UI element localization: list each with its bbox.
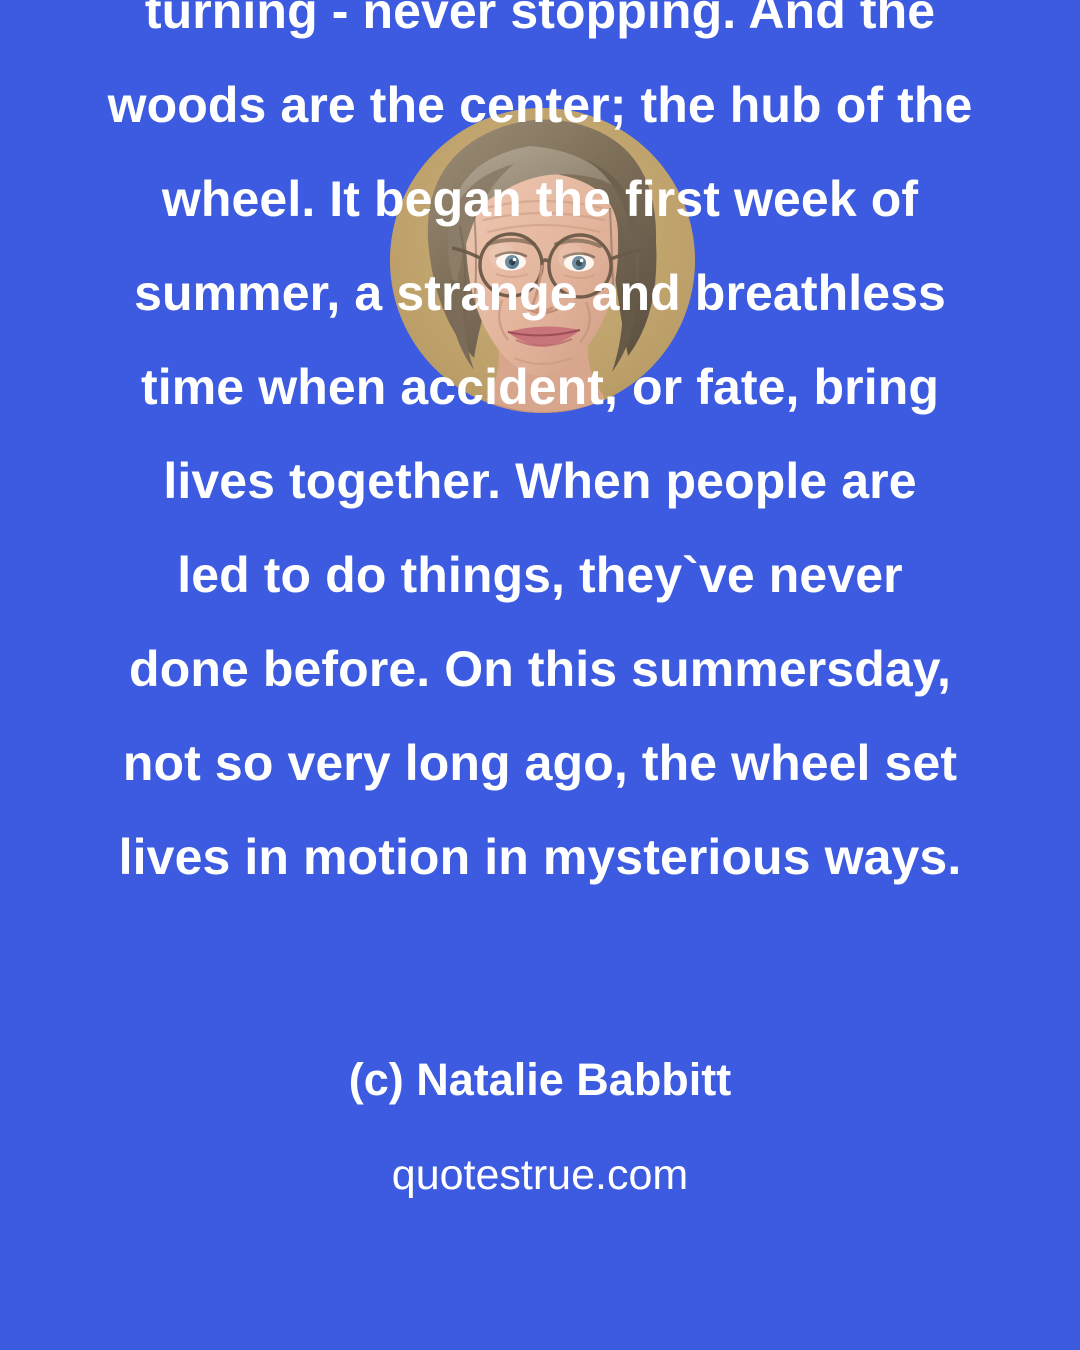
quote-line: led to do things, they`ve never — [70, 528, 1010, 622]
quote-line: not so very long ago, the wheel set — [70, 716, 1010, 810]
author-attribution: (c) Natalie Babbitt — [0, 1052, 1080, 1108]
quote-line: lives together. When people are — [70, 434, 1010, 528]
site-watermark: quotestrue.com — [0, 1148, 1080, 1202]
quote-text: turning - never stopping. And the woods … — [0, 0, 1080, 904]
quote-line: lives in motion in mysterious ways. — [70, 810, 1010, 904]
quote-line: summer, a strange and breathless — [70, 246, 1010, 340]
quote-line: wheel. It began the first week of — [70, 152, 1010, 246]
quote-card: turning - never stopping. And the woods … — [0, 0, 1080, 1350]
quote-line: done before. On this summersday, — [70, 622, 1010, 716]
quote-line: turning - never stopping. And the — [70, 0, 1010, 58]
quote-line: woods are the center; the hub of the — [70, 58, 1010, 152]
quote-line: time when accident, or fate, bring — [70, 340, 1010, 434]
